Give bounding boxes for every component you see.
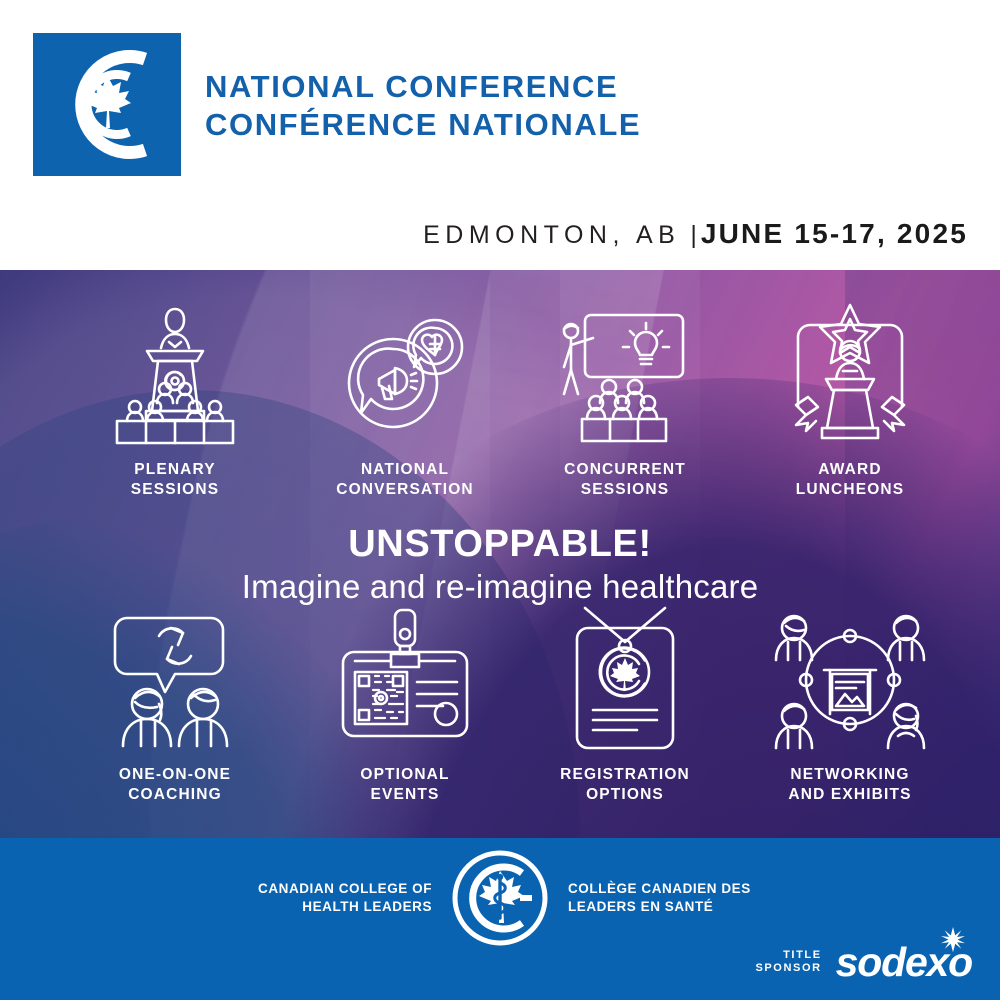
- badge-qrcode-icon: [280, 595, 530, 765]
- headline-primary: UNSTOPPABLE!: [0, 522, 1000, 566]
- cchl-name-fr-line2: LEADERS EN SANTÉ: [568, 898, 756, 916]
- two-people-speech-refresh-icon: [50, 595, 300, 765]
- title-sponsor-block: TITLE SPONSOR sodexo: [755, 940, 972, 984]
- podium-audience-icon: [50, 290, 300, 460]
- feature-label-line2: AND EXHIBITS: [725, 785, 975, 805]
- conference-poster: NATIONAL CONFERENCE CONFÉRENCE NATIONALE…: [0, 0, 1000, 1000]
- cchl-name-en-line2: HEALTH LEADERS: [244, 898, 432, 916]
- feature-label-line1: OPTIONAL: [280, 765, 530, 785]
- conference-title-block: NATIONAL CONFERENCE CONFÉRENCE NATIONALE: [205, 68, 641, 144]
- features-panel: PLENARY SESSIONS: [0, 270, 1000, 838]
- feature-optional-events[interactable]: OPTIONAL EVENTS: [280, 595, 530, 805]
- feature-one-on-one-coaching[interactable]: ONE-ON-ONE COACHING: [50, 595, 300, 805]
- feature-label-line1: REGISTRATION: [500, 765, 750, 785]
- sponsor-label-line1: TITLE: [755, 949, 821, 962]
- feature-label-line1: PLENARY: [50, 460, 300, 480]
- feature-people-network-exhibit-icon-cell[interactable]: NETWORKING AND EXHIBITS: [725, 595, 975, 805]
- feature-label-line2: CONVERSATION: [280, 480, 530, 500]
- speech-bubbles-megaphone-heart-icon: [280, 290, 530, 460]
- lanyard-badge-logo-icon: [500, 595, 750, 765]
- people-network-exhibit-icon: [725, 595, 975, 765]
- feature-plenary-sessions[interactable]: PLENARY SESSIONS: [50, 290, 300, 500]
- feature-label-line2: SESSIONS: [500, 480, 750, 500]
- sponsor-label: TITLE SPONSOR: [755, 949, 821, 975]
- cchl-branding: CANADIAN COLLEGE OF HEALTH LEADERS: [0, 850, 1000, 946]
- feature-label-line1: AWARD: [725, 460, 975, 480]
- sponsor-label-line2: SPONSOR: [755, 962, 821, 975]
- poster-footer: CANADIAN COLLEGE OF HEALTH LEADERS: [0, 838, 1000, 1000]
- presenter-whiteboard-audience-icon: [500, 290, 750, 460]
- feature-label-line1: CONCURRENT: [500, 460, 750, 480]
- event-dates: JUNE 15-17, 2025: [701, 218, 968, 250]
- cchl-name-fr: COLLÈGE CANADIEN DES LEADERS EN SANTÉ: [548, 880, 756, 916]
- cchl-c-maple-logo: [33, 33, 181, 176]
- feature-label-line1: ONE-ON-ONE: [50, 765, 300, 785]
- feature-label-line2: OPTIONS: [500, 785, 750, 805]
- cchl-circular-maple-caduceus-logo: [452, 850, 548, 946]
- feature-label-line2: COACHING: [50, 785, 300, 805]
- feature-concurrent-sessions[interactable]: CONCURRENT SESSIONS: [500, 290, 750, 500]
- event-location-dates: EDMONTON, AB | JUNE 15-17, 2025: [423, 218, 968, 250]
- conference-title-fr: CONFÉRENCE NATIONALE: [205, 106, 641, 144]
- feature-label-line2: LUNCHEONS: [725, 480, 975, 500]
- feature-label-line1: NATIONAL: [280, 460, 530, 480]
- cchl-name-en-line1: CANADIAN COLLEGE OF: [244, 880, 432, 898]
- feature-label-line1: NETWORKING: [725, 765, 975, 785]
- event-location: EDMONTON, AB: [423, 221, 680, 250]
- event-separator: |: [680, 221, 701, 250]
- feature-registration-options[interactable]: REGISTRATION OPTIONS: [500, 595, 750, 805]
- sodexo-star-icon: [940, 927, 966, 953]
- cchl-name-fr-line1: COLLÈGE CANADIEN DES: [568, 880, 756, 898]
- sodexo-logo: sodexo: [836, 940, 972, 984]
- award-podium-star-icon: [725, 290, 975, 460]
- feature-award-luncheons[interactable]: AWARD LUNCHEONS: [725, 290, 975, 500]
- feature-grid: PLENARY SESSIONS: [0, 270, 1000, 838]
- cchl-name-en: CANADIAN COLLEGE OF HEALTH LEADERS: [244, 880, 452, 916]
- feature-label-line2: EVENTS: [280, 785, 530, 805]
- conference-title-en: NATIONAL CONFERENCE: [205, 68, 641, 106]
- poster-header: NATIONAL CONFERENCE CONFÉRENCE NATIONALE…: [0, 0, 1000, 270]
- feature-label-line2: SESSIONS: [50, 480, 300, 500]
- feature-national-conversation[interactable]: NATIONAL CONVERSATION: [280, 290, 530, 500]
